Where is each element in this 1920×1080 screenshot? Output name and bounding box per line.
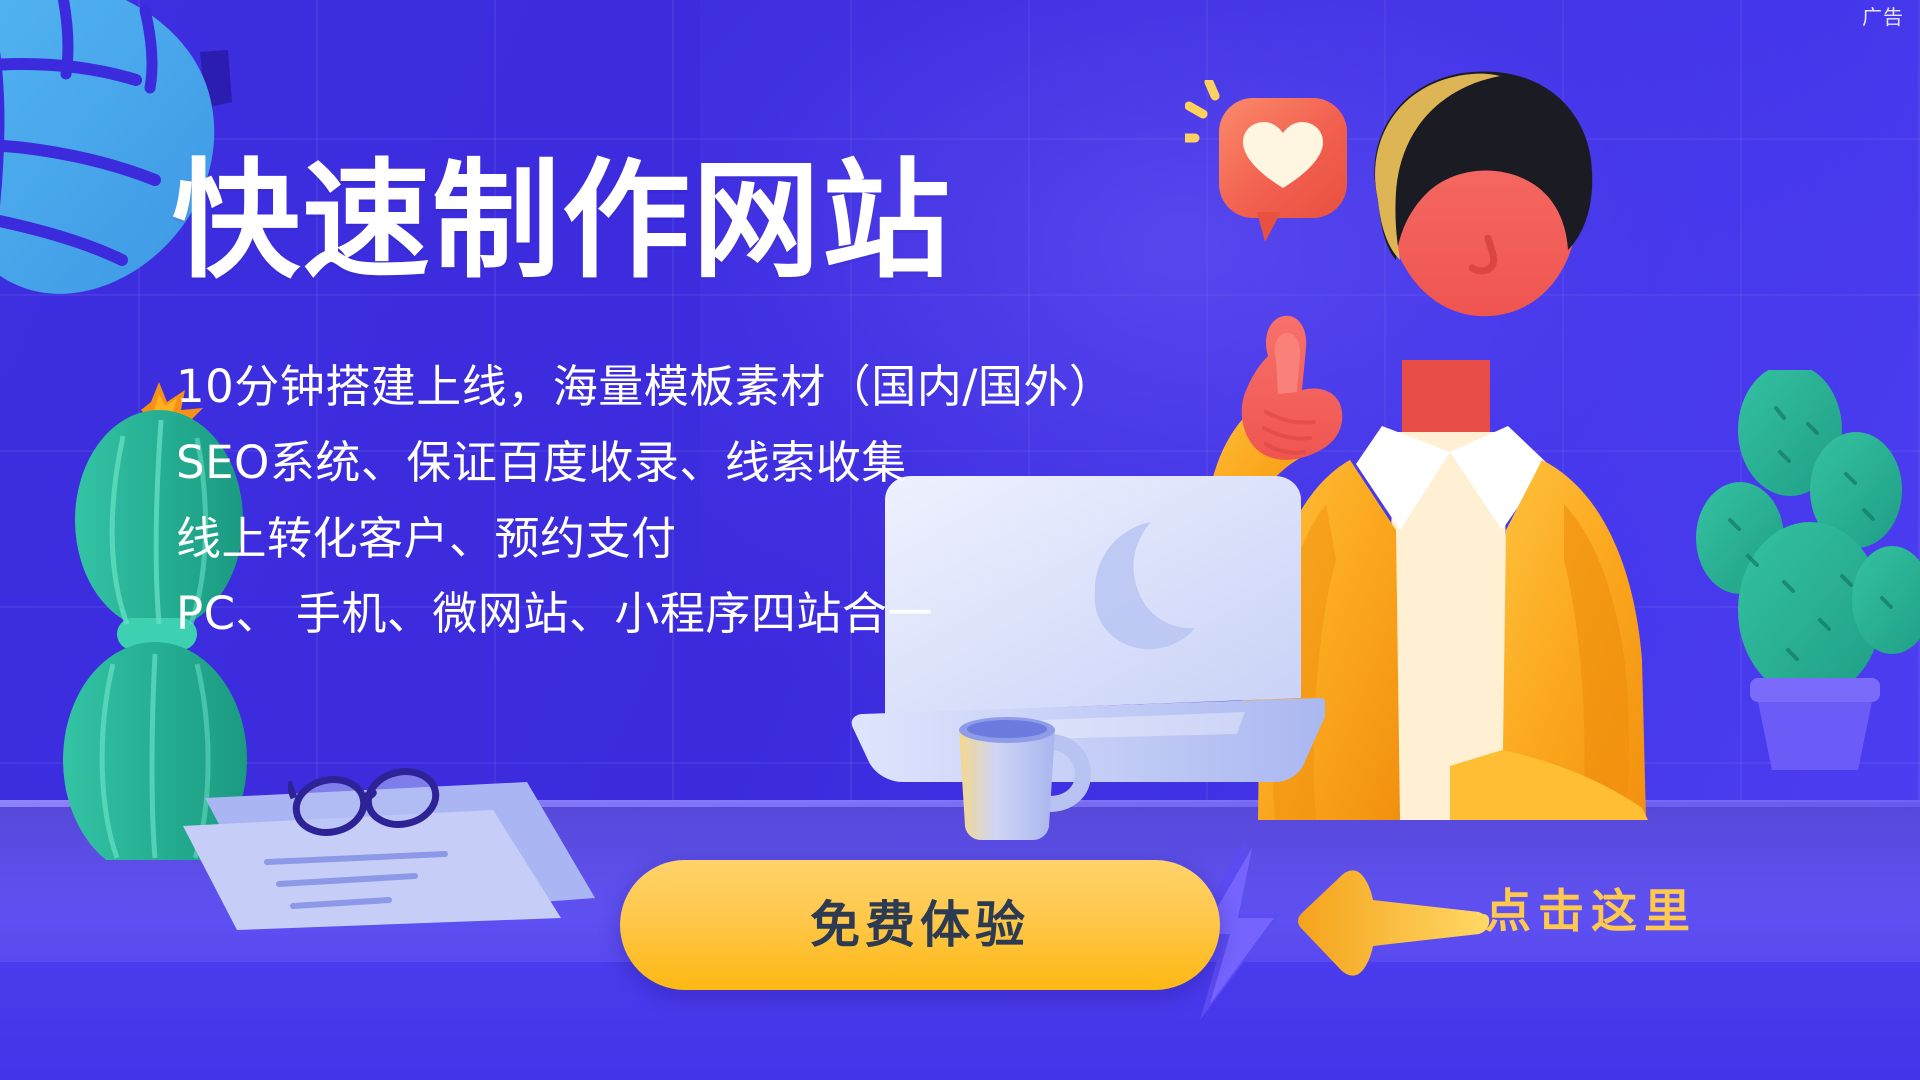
left-pointing-arrow-icon — [1295, 868, 1490, 978]
ad-label: 广告 — [1862, 8, 1904, 28]
prickly-pear-cactus-in-pot-icon — [1660, 370, 1920, 770]
banner-copy: 快速制作网站 10分钟搭建上线，海量模板素材（国内/国外） SEO系统、保证百度… — [172, 150, 1172, 652]
advertisement-banner[interactable]: 广告 — [0, 0, 1920, 1080]
click-here-label: 点击这里 — [1485, 888, 1697, 934]
list-item: 线上转化客户、预约支付 — [176, 501, 1172, 577]
list-item: PC、 手机、微网站、小程序四站合一 — [176, 576, 1172, 652]
cta-area: 免费体验 — [620, 860, 1220, 990]
list-item: SEO系统、保证百度收录、线索收集 — [176, 425, 1172, 501]
page-title: 快速制作网站 — [172, 150, 1172, 293]
heart-like-notification-bubble-icon — [1185, 80, 1385, 270]
free-trial-button-label: 免费体验 — [810, 900, 1030, 950]
coffee-mug-illustration — [945, 700, 1095, 840]
feature-list: 10分钟搭建上线，海量模板素材（国内/国外） SEO系统、保证百度收录、线索收集… — [176, 349, 1172, 651]
free-trial-button[interactable]: 免费体验 — [620, 860, 1220, 990]
list-item: 10分钟搭建上线，海量模板素材（国内/国外） — [176, 349, 1172, 425]
eyeglasses-illustration — [288, 760, 448, 840]
